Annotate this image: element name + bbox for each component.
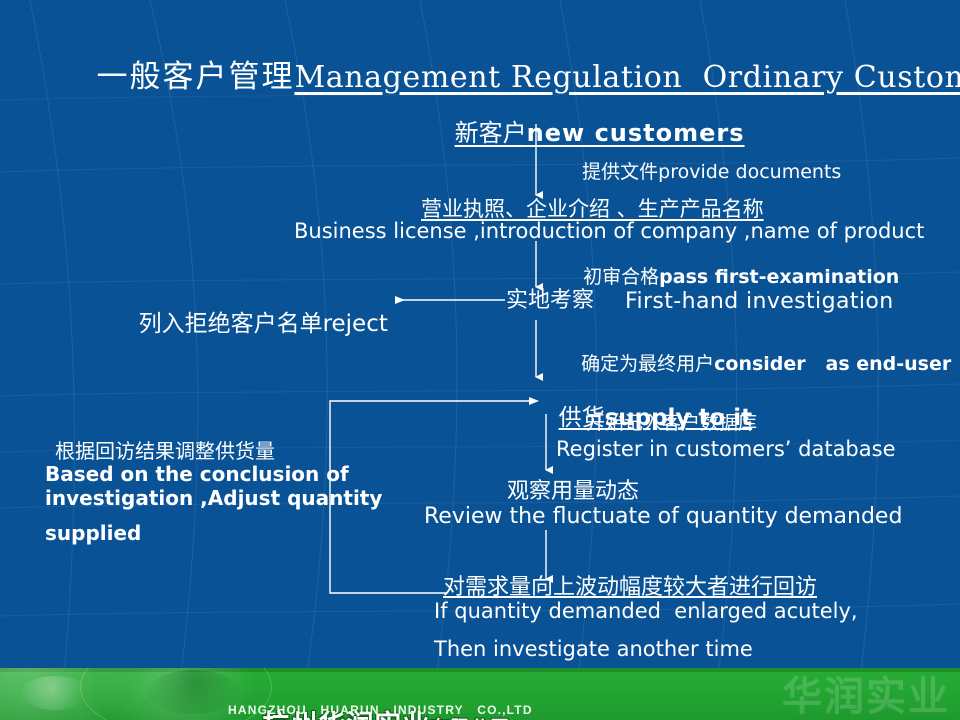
loop-note-cjk: 根据回访结果调整供货量 <box>55 441 275 462</box>
node-investigation-en: First-hand investigation <box>625 290 894 313</box>
banner-circle-small <box>20 676 90 710</box>
node-investigation-cjk: 实地考察 <box>506 289 594 312</box>
banner-logo-en: HANGZHOU HUARUN INDUSTRY CO.,LTD <box>228 703 533 717</box>
banner-circle-large <box>0 668 160 720</box>
edge-pass-first-examination-cjk: 初审合格 <box>583 266 659 288</box>
edge-provide-documents-en: provide documents <box>658 161 841 183</box>
edge-register-database-en: Register in customers’ database <box>556 438 896 460</box>
loop-note-en-line1: Based on the conclusion of <box>45 464 349 485</box>
node-review-en: Review the fluctuate of quantity demande… <box>424 505 902 528</box>
page-title-en: Management Regulation Ordinary Customers <box>294 60 960 95</box>
edge-consider-end-user-cjk: 确定为最终用户 <box>581 353 714 375</box>
node-revisit-cjk: 对需求量向上波动幅度较大者进行回访 <box>443 576 817 599</box>
edge-register-database-cjk: 开始记入客户数据库 <box>586 414 757 434</box>
slide-canvas: 一般客户管理Management Regulation Ordinary Cus… <box>0 0 960 720</box>
node-reject: 列入拒绝客户名单reject <box>113 287 388 360</box>
loop-note-en-line2: investigation ,Adjust quantity <box>45 488 382 509</box>
node-revisit-en-line2: Then investigate another time <box>434 638 753 660</box>
node-new-customers-cjk: 新客户 <box>455 119 527 147</box>
edge-provide-documents-cjk: 提供文件 <box>582 161 658 183</box>
node-documents-cjk: 营业执照、企业介绍 、生产产品名称 <box>421 198 764 220</box>
banner-ghost-text: 华润实业 <box>782 668 950 720</box>
loop-note-en-line3: supplied <box>45 523 141 544</box>
node-reject-en: reject <box>323 311 388 337</box>
node-reject-cjk: 列入拒绝客户名单 <box>139 311 323 337</box>
node-revisit-en-line1: If quantity demanded enlarged acutely, <box>434 600 858 622</box>
company-banner: 华润实业 杭州华润实业有限公司 HANGZHOU HUARUN INDUSTRY… <box>0 668 960 720</box>
edge-provide-documents: 提供文件provide documents <box>561 143 841 203</box>
edge-pass-first-examination-en: pass first-examination <box>659 266 899 288</box>
edge-consider-end-user-en: consider as end-user <box>714 353 951 375</box>
node-documents-en: Business license ,introduction of compan… <box>294 220 924 242</box>
page-title-cjk: 一般客户管理 <box>96 59 294 95</box>
node-review-cjk: 观察用量动态 <box>507 480 639 503</box>
